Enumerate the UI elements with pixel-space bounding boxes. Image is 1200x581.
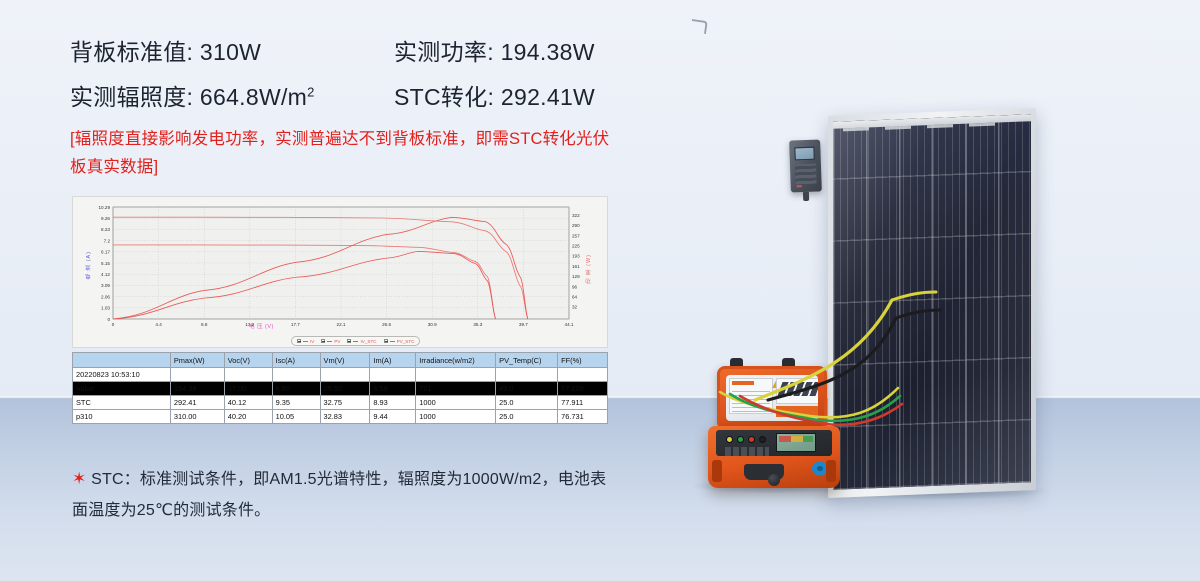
legend-line-swatch [390,341,395,342]
table-row[interactable]: STC292.4140.129.3532.758.93100025.077.91… [73,396,608,410]
legend-item[interactable]: IV [297,339,314,344]
legend-item[interactable]: PV_STC [384,339,415,344]
chart-x-axis-label: 电 压 (V) [249,322,274,330]
table-cell: 32.75 [320,396,370,410]
metric-measured-power: 实测功率: 194.38W [394,33,595,67]
table-col-header: PV_Temp(C) [496,353,558,368]
table-col-header: FF(%) [558,353,608,368]
chart-x-tick: 44.1 [565,322,574,327]
table-cell: 40.20 [224,410,272,424]
table-cell [170,368,224,382]
chart-y-tick-left: 8.23 [101,227,110,232]
metric-value: 664.8W/m [200,84,307,110]
table-cell: 76.731 [558,410,608,424]
table-cell [320,368,370,382]
lid-diagram-label [776,378,818,404]
meter-led-icon [797,185,802,187]
lid-warning-banner [776,406,818,417]
legend-checkbox-icon[interactable] [321,339,325,343]
asterisk-icon: ✶ [72,469,86,488]
chart-y-axis-right-label: 功 率 (W) [586,254,592,284]
legend-line-swatch [353,341,358,342]
meter-mounting-clip [690,19,708,34]
table-body: 20220823 10:53:10Value194.3837.006.8029.… [73,368,608,424]
metric-label: 实测辐照度: [70,84,193,110]
table-cell: 77.911 [558,396,608,410]
legend-checkbox-icon[interactable] [384,339,388,343]
chart-x-tick: 8.8 [201,322,208,327]
chart-plot-area: 10.299.268.237.26.175.154.123.092.061.03… [73,197,609,349]
chart-x-tick: 30.9 [428,322,437,327]
solar-panel [828,108,1036,498]
terminal-port-black[interactable] [759,436,766,443]
table-cell: 1000 [416,410,496,424]
tester-front-panel [716,430,832,456]
table-row-label: STC [73,396,171,410]
meter-display [794,147,814,161]
chart-y-tick-right: 257 [572,233,580,238]
solar-panel-icon [777,382,818,396]
table-cell: 194.38 [170,382,224,396]
table-cell: 9.35 [272,396,320,410]
chart-y-tick-left: 5.15 [101,261,110,266]
chart-x-tick: 22.1 [337,322,346,327]
table-cell: 8.93 [370,396,416,410]
table-row-label: p310 [73,410,171,424]
table-cell: 310.00 [170,410,224,424]
legend-label: IV [310,339,314,344]
equipment-photo [660,0,1200,581]
chart-y-tick-left: 10.29 [99,205,111,210]
chart-y-tick-left: 0 [107,317,110,322]
chart-y-tick-left: 6.17 [101,250,110,255]
table-cell: 77.220 [558,382,608,396]
table-cell: 1000 [416,396,496,410]
table-cell: 25.0 [496,396,558,410]
explanatory-note: [辐照度直接影响发电功率，实测普遍达不到背板标准，即需STC转化光伏板真实数据] [70,125,616,181]
chart-y-tick-left: 7.2 [104,238,111,243]
chart-x-tick: 0 [112,322,115,327]
table-row-label: Value [73,382,171,396]
display-graph-icon [779,436,813,442]
table-cell: 721 [416,382,496,396]
metrics-block: 背板标准值: 310W 实测功率: 194.38W 实测辐照度: 664.8W/… [70,33,640,123]
table-col-header: Im(A) [370,353,416,368]
chart-x-tick: 39.7 [519,322,528,327]
metric-backsheet-rating: 背板标准值: 310W [70,33,394,67]
chart-y-tick-right: 64 [572,294,578,299]
panel-cell-surface [833,114,1031,490]
iv-curve-chart: 10.299.268.237.26.175.154.123.092.061.03… [72,196,608,348]
table-cell: 6.59 [370,382,416,396]
chart-y-tick-right: 96 [572,284,578,289]
table-row[interactable]: p310310.0040.2010.0532.839.44100025.076.… [73,410,608,424]
label-text-lines [732,388,770,412]
chart-svg: 10.299.268.237.26.175.154.123.092.061.03… [73,197,609,349]
metric-measured-irradiance: 实测辐照度: 664.8W/m2 [70,78,394,112]
table-col-header: Pmax(W) [170,353,224,368]
legend-checkbox-icon[interactable] [347,339,351,343]
chart-y-tick-right: 193 [572,254,580,259]
chart-y-tick-right: 290 [572,223,580,228]
iv-curve-tester [708,358,840,490]
legend-item[interactable]: IV_STC [347,339,376,344]
table-cell: 10.05 [272,410,320,424]
panel-glare [833,114,1031,490]
legend-label: PV_STC [397,339,415,344]
metric-label: 背板标准值: [70,39,193,65]
dpad-center-icon[interactable] [817,466,823,471]
legend-line-swatch [327,341,332,342]
table-col-header: Isc(A) [272,353,320,368]
chart-legend[interactable]: IVPVIV_STCPV_STC [291,336,420,346]
table-cell: 9.44 [370,410,416,424]
table-header: Pmax(W)Voc(V)Isc(A)Vm(V)Im(A)Irradiance(… [73,353,608,368]
chart-y-tick-left: 4.12 [101,272,110,277]
metrics-row: 背板标准值: 310W 实测功率: 194.38W [70,33,640,67]
table-col-header: Vm(V) [320,353,370,368]
chart-y-axis-left-label: 电 流 (A) [86,251,92,279]
legend-line-swatch [303,341,308,342]
table-timestamp-cell: 20220823 10:53:10 [73,368,171,382]
chart-x-tick: 4.4 [155,322,162,327]
table-cell: 25.0 [496,410,558,424]
chart-y-tick-right: 225 [572,244,580,249]
chart-x-tick: 26.5 [382,322,391,327]
meter-mount-stem [803,192,809,201]
metric-value: 310W [200,39,261,65]
legend-item[interactable]: PV [321,339,340,344]
chart-y-tick-right: 161 [572,264,580,269]
table-header-row: Pmax(W)Voc(V)Isc(A)Vm(V)Im(A)Irradiance(… [73,353,608,368]
chart-x-tick: 17.7 [291,322,300,327]
terminal-port-red[interactable] [748,436,755,443]
tester-display [776,433,816,452]
table-cell: 37.00 [224,382,272,396]
table-cell [558,368,608,382]
case-lid [717,366,827,430]
chart-y-tick-right: 32 [572,305,578,310]
chart-y-tick-left: 2.06 [101,294,110,299]
meter-keypad [795,164,817,185]
metric-stc-converted: STC转化: 292.41W [394,78,595,112]
tester-vent-slots [725,447,769,456]
legend-label: PV [334,339,340,344]
label-title-bar [732,381,754,385]
metric-unit-exponent: 2 [307,84,315,99]
chart-y-tick-left: 1.03 [101,306,110,311]
stc-footnote: ✶ STC：标准测试条件，即AM1.5光谱特性，辐照度为1000W/m2，电池表… [72,463,620,526]
table-cell: 6.80 [272,382,320,396]
chart-y-tick-left: 3.09 [101,283,110,288]
lid-instructions-label [729,378,773,414]
table-cell: 292.41 [170,396,224,410]
metric-label: 实测功率: [394,39,494,65]
lid-label-sheet [726,375,818,421]
metrics-row: 实测辐照度: 664.8W/m2 STC转化: 292.41W [70,78,640,112]
table-row: 20220823 10:53:10 [73,368,608,382]
table-cell: 40.12 [224,396,272,410]
irradiance-meter [789,139,822,192]
metric-label: STC转化: [394,84,494,110]
chart-x-tick: 35.3 [473,322,482,327]
measurement-results-table: Pmax(W)Voc(V)Isc(A)Vm(V)Im(A)Irradiance(… [72,352,608,424]
table-col-header: Voc(V) [224,353,272,368]
chart-y-tick-left: 9.26 [101,216,110,221]
table-col-header [73,353,171,368]
table-cell: 49.0 [496,382,558,396]
legend-checkbox-icon[interactable] [297,339,301,343]
metric-value: 194.38W [501,39,595,65]
table-row[interactable]: Value194.3837.006.8029.506.5972149.077.2… [73,382,608,396]
case-base [708,426,840,488]
table-cell [224,368,272,382]
table-cell [272,368,320,382]
terminal-port-yellow[interactable] [726,436,733,443]
table-cell [416,368,496,382]
footnote-text: STC：标准测试条件，即AM1.5光谱特性，辐照度为1000W/m2，电池表面温… [72,471,606,519]
table-cell: 32.83 [320,410,370,424]
case-foot-right [826,460,836,482]
metric-value: 292.41W [501,84,595,110]
chart-y-tick-right: 129 [572,274,580,279]
case-foot-left [712,460,722,482]
legend-label: IV_STC [360,339,376,344]
chart-y-tick-right: 322 [572,213,580,218]
table-cell [370,368,416,382]
table-cell: 29.50 [320,382,370,396]
case-knob[interactable] [768,474,780,486]
table-cell [496,368,558,382]
table-col-header: Irradiance(w/m2) [416,353,496,368]
terminal-port-green[interactable] [737,436,744,443]
